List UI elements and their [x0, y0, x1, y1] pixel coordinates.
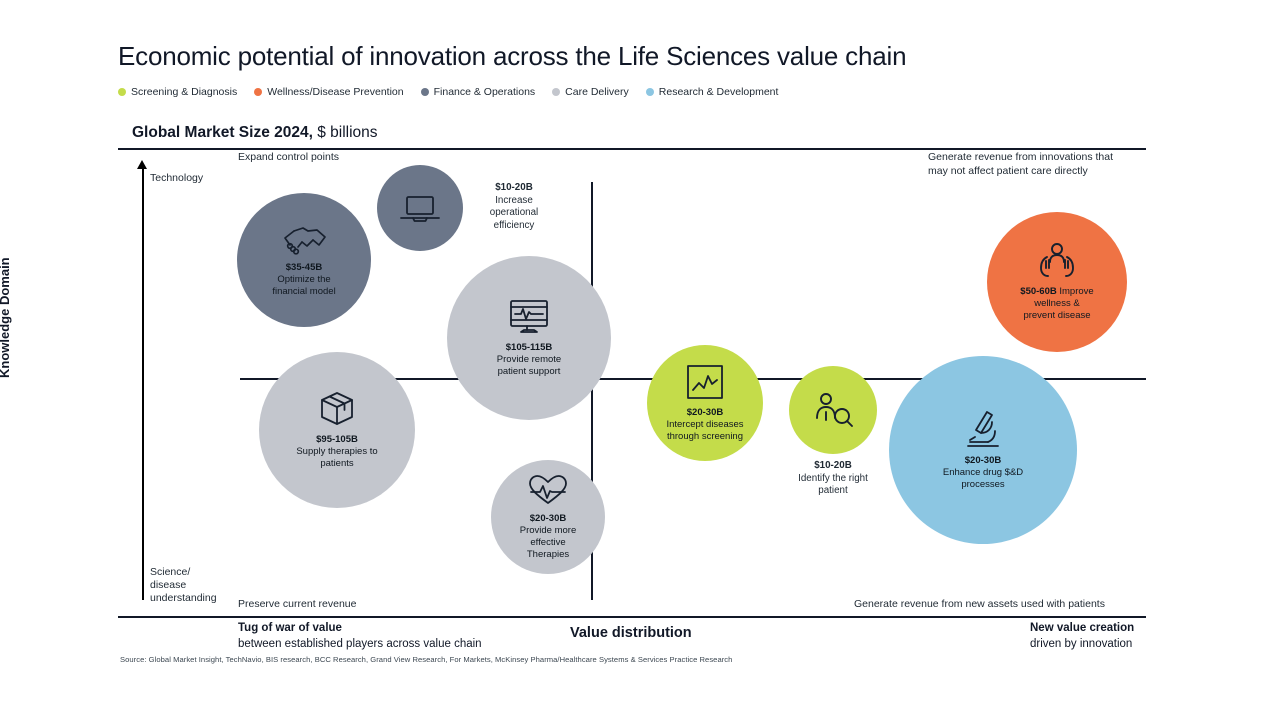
bubble-value: $20-30B	[687, 407, 723, 418]
person-search-icon	[812, 392, 854, 428]
footer-right-strong: New value creation	[1030, 621, 1134, 637]
bubble-value: $95-105B	[316, 434, 358, 445]
bubble-value: $10-20B	[495, 182, 533, 193]
annotation-top-right: Generate revenue from innovations thatma…	[928, 151, 1113, 178]
y-axis-line	[142, 166, 144, 600]
annotation-top-left: Expand control points	[238, 151, 339, 165]
x-axis-title: Value distribution	[570, 625, 692, 641]
y-axis-bottom-label: Science/diseaseunderstanding	[150, 566, 217, 605]
microscope-icon	[963, 409, 1003, 449]
footer-left: Tug of war of value between established …	[238, 621, 482, 652]
source-note: Source: Global Market Insight, TechNavio…	[120, 655, 732, 664]
annotation-bottom-left: Preserve current revenue	[238, 598, 356, 612]
bubble-label: $20-30BIntercept diseasesthrough screeni…	[660, 407, 749, 443]
bubble-value: $50-60B	[1020, 286, 1056, 297]
footer-left-strong: Tug of war of value	[238, 621, 482, 637]
monitor-vitals-icon	[506, 298, 552, 336]
x-axis-rule	[118, 616, 1146, 618]
bubble-value: $20-30B	[530, 513, 566, 524]
bubble-enhance-drug-rd-processes[interactable]: $20-30BEnhance drug $&Dprocesses	[889, 356, 1077, 544]
bubble-value: $35-45B	[286, 262, 322, 273]
footer-left-sub: between established players across value…	[238, 637, 482, 653]
bubble-external-label: $10-20BIdentify the rightpatient	[773, 460, 893, 498]
bubble-label: $105-115BProvide remotepatient support	[491, 342, 567, 378]
bubble-increase-operational-efficiency[interactable]	[377, 165, 463, 251]
bubble-provide-remote-patient-support[interactable]: $105-115BProvide remotepatient support	[447, 256, 611, 420]
bubble-label: $20-30BProvide moreeffectiveTherapies	[514, 513, 583, 561]
bubble-identify-the-right-patient[interactable]	[789, 366, 877, 454]
footer-right: New value creation driven by innovation	[1030, 621, 1134, 652]
bubble-value: $20-30B	[965, 455, 1001, 466]
y-axis-title: Knowledge Domain	[0, 257, 12, 378]
heart-pulse-icon	[527, 473, 569, 507]
bubble-value: $105-115B	[506, 342, 552, 353]
bubble-value: $10-20B	[814, 460, 852, 471]
bubble-provide-more-effective-therapies[interactable]: $20-30BProvide moreeffectiveTherapies	[491, 460, 605, 574]
bubble-optimize-financial-model[interactable]: $35-45BOptimize thefinancial model	[237, 193, 371, 327]
bubble-label: $20-30BEnhance drug $&Dprocesses	[937, 455, 1029, 491]
slide-canvas: Economic potential of innovation across …	[0, 0, 1280, 720]
trend-chart-icon	[685, 363, 725, 401]
bubble-external-label: $10-20BIncreaseoperationalefficiency	[471, 182, 557, 233]
bubble-label: $95-105BSupply therapies topatients	[290, 434, 383, 470]
bubble-label: $35-45BOptimize thefinancial model	[266, 262, 341, 298]
bubble-chart-plot: Knowledge Domain Technology Science/dise…	[0, 0, 1280, 720]
annotation-bottom-right: Generate revenue from new assets used wi…	[854, 598, 1105, 612]
wellness-hands-icon	[1035, 242, 1079, 280]
laptop-icon	[399, 193, 441, 223]
bubble-label: $50-60B Improvewellness &prevent disease	[1014, 286, 1099, 322]
y-axis-top-label: Technology	[150, 172, 203, 184]
bubble-intercept-diseases-through-screening[interactable]: $20-30BIntercept diseasesthrough screeni…	[647, 345, 763, 461]
bubble-improve-wellness-prevent-disease[interactable]: $50-60B Improvewellness &prevent disease	[987, 212, 1127, 352]
handshake-icon	[281, 222, 327, 256]
footer-right-sub: driven by innovation	[1030, 637, 1134, 653]
bubble-supply-therapies-to-patients[interactable]: $95-105BSupply therapies topatients	[259, 352, 415, 508]
package-box-icon	[318, 390, 356, 428]
